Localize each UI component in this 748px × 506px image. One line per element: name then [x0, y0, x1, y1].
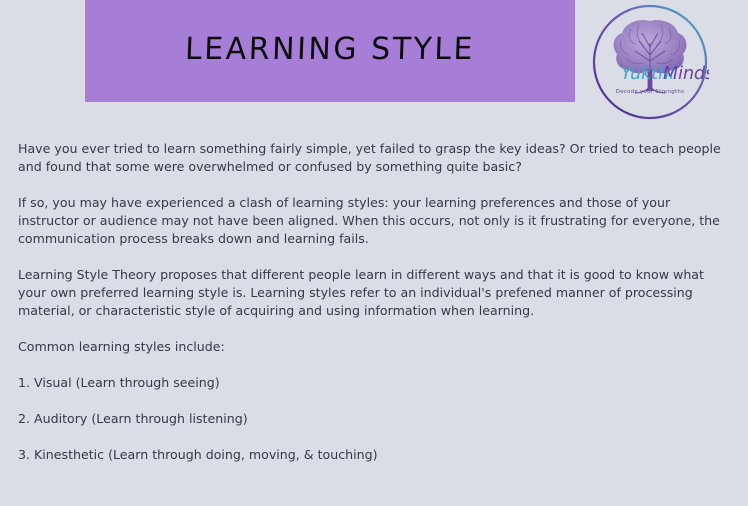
slide-page: LEARNING STYLE	[0, 0, 748, 506]
list-item: 2. Auditory (Learn through listening)	[18, 410, 730, 428]
logo-brand-second: Minds	[663, 64, 709, 84]
paragraph-3: Learning Style Theory proposes that diff…	[18, 266, 718, 320]
paragraph-1: Have you ever tried to learn something f…	[18, 140, 724, 176]
page-title: LEARNING STYLE	[184, 35, 475, 68]
list-lead-in: Common learning styles include:	[18, 338, 724, 356]
yukthi-minds-logo: Yukthi Minds Decode your Strengths	[591, 3, 709, 121]
list-item: 1. Visual (Learn through seeing)	[18, 374, 730, 392]
list-item: 3. Kinesthetic (Learn through doing, mov…	[18, 446, 730, 464]
slide-header: LEARNING STYLE	[0, 0, 748, 125]
title-banner: LEARNING STYLE	[85, 0, 575, 102]
logo-graphic: Yukthi Minds Decode your Strengths	[591, 3, 709, 121]
paragraph-2: If so, you may have experienced a clash …	[18, 194, 724, 248]
logo-tagline: Decode your Strengths	[616, 89, 684, 95]
body-content: Have you ever tried to learn something f…	[18, 140, 730, 482]
